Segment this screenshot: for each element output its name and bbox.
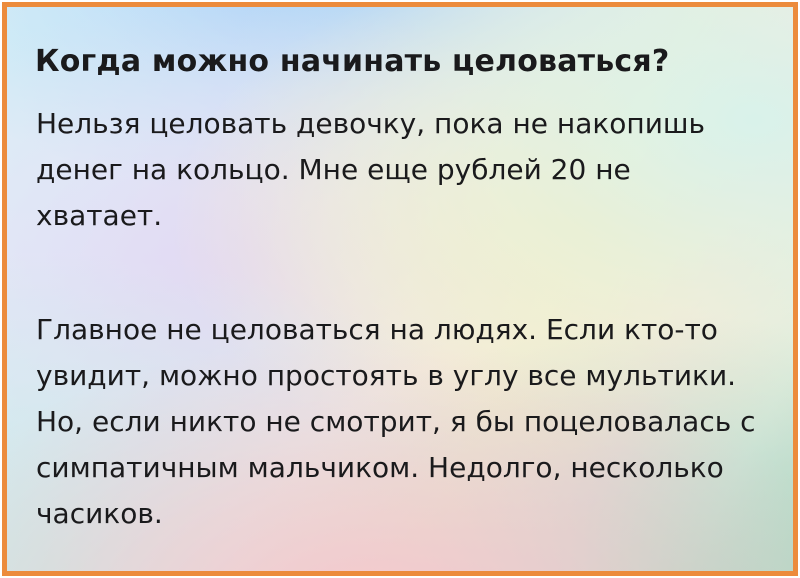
- headline-question: Когда можно начинать целоваться?: [35, 43, 765, 81]
- answer-paragraph-1: Нельзя целовать девочку, пока не накопиш…: [36, 101, 736, 239]
- bordered-frame: Когда можно начинать целоваться? Нельзя …: [2, 2, 798, 576]
- meme-card: Когда можно начинать целоваться? Нельзя …: [0, 0, 800, 578]
- answer-paragraph-2: Главное не целоваться на людях. Если кто…: [36, 307, 766, 537]
- text-layer: Когда можно начинать целоваться? Нельзя …: [7, 7, 793, 571]
